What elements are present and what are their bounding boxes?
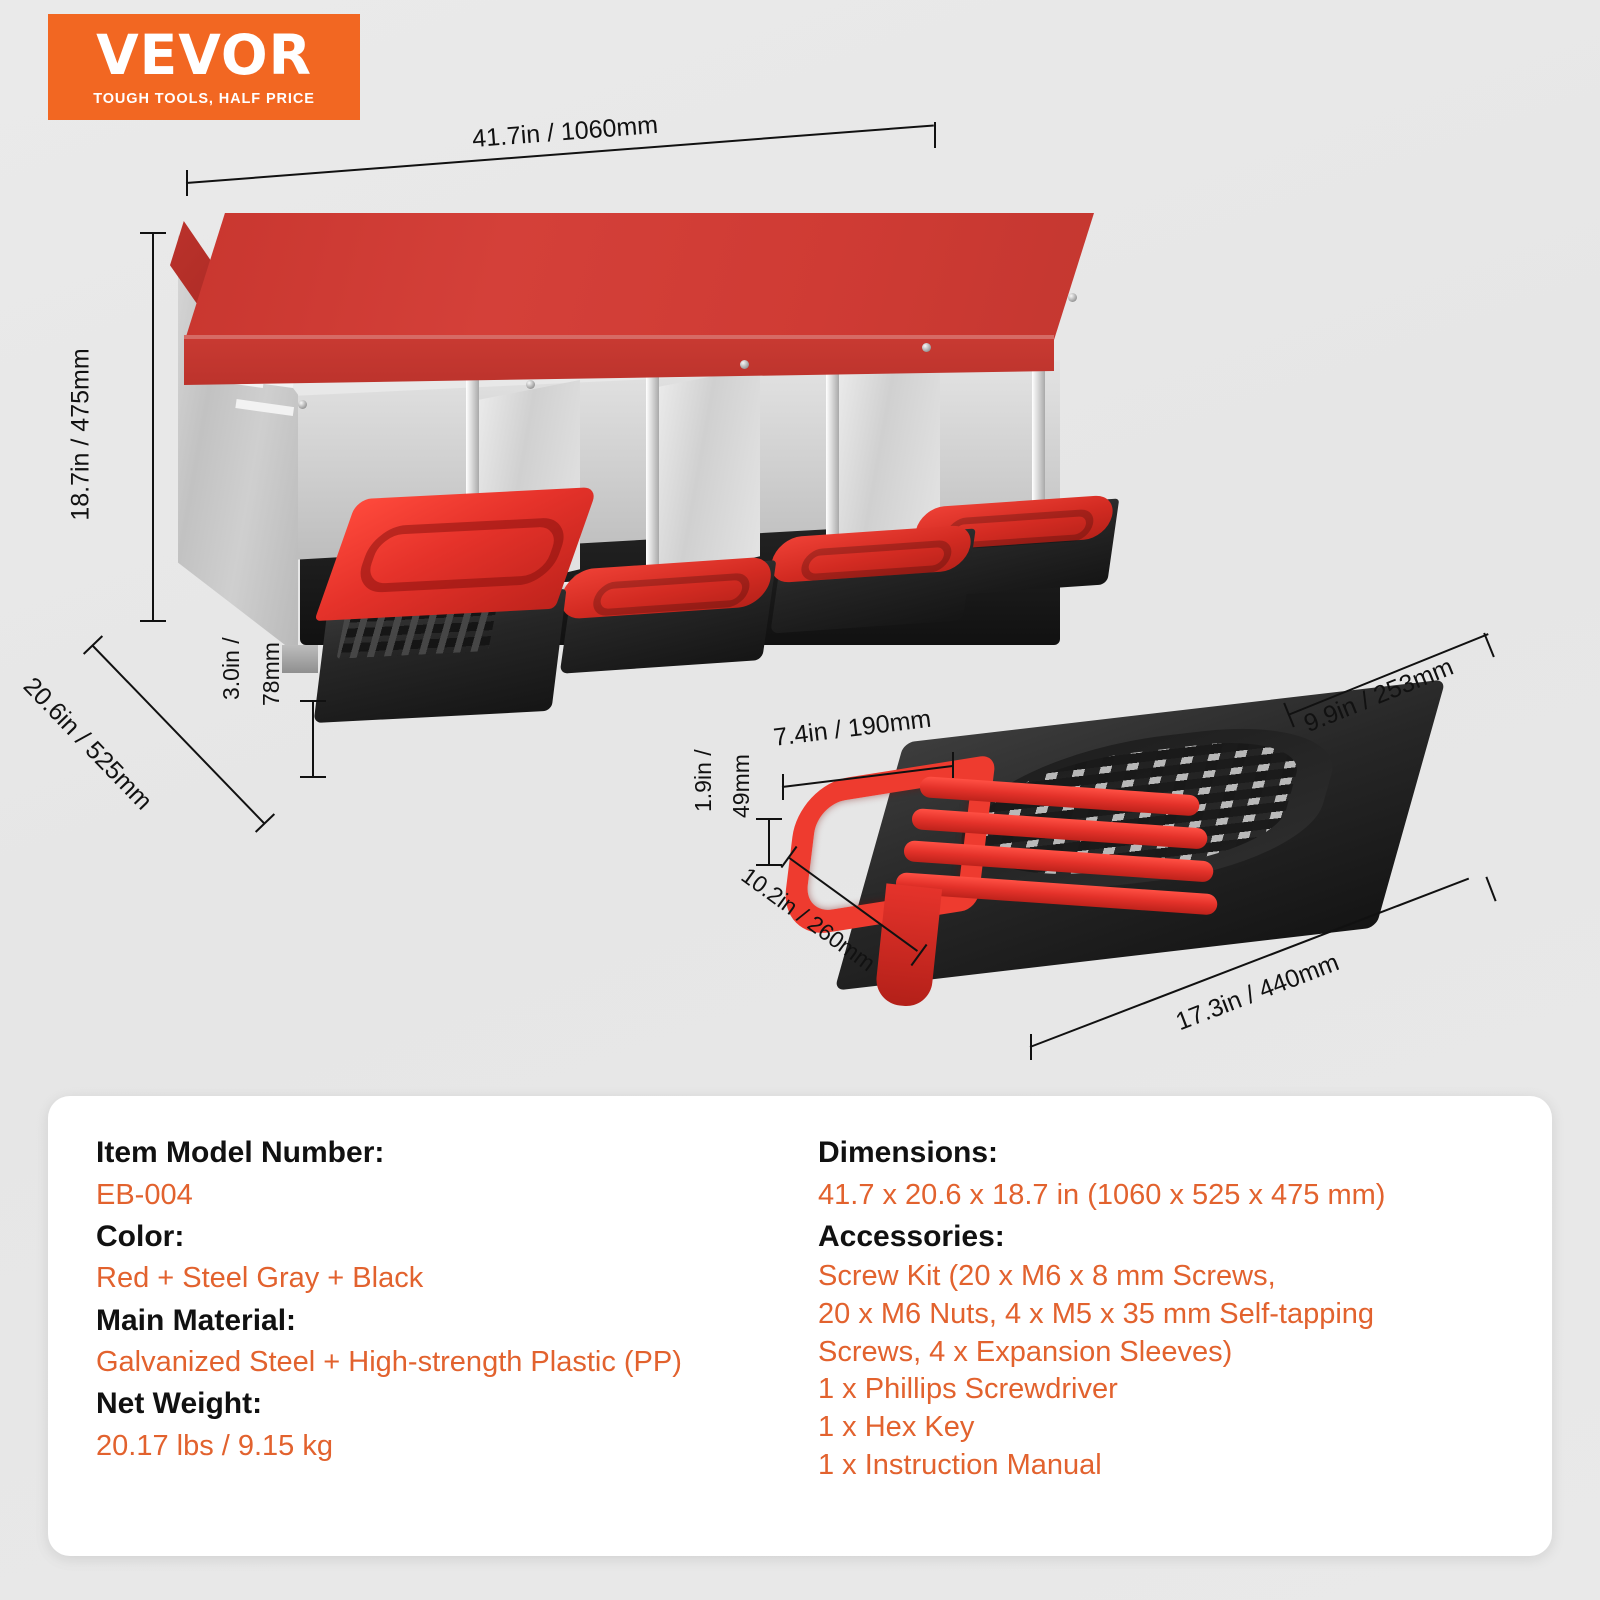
accessory-line: 1 x Instruction Manual: [818, 1447, 1504, 1485]
accessory-line: Screw Kit (20 x M6 x 8 mm Screws,: [818, 1258, 1504, 1296]
vevor-logo: VEVOR TOUGH TOOLS, HALF PRICE: [48, 14, 360, 120]
fascia-screw-5: [1068, 293, 1077, 302]
detached-tray-illustration: [770, 690, 1490, 1060]
accessory-line: 20 x M6 Nuts, 4 x M5 x 35 mm Self-tappin…: [818, 1296, 1504, 1334]
tray-handle-height-label-line1: 1.9in /: [690, 749, 717, 812]
tray-back-width-tick-right: [1483, 633, 1495, 658]
spec-column-left: Item Model Number: EB-004 Color: Red + S…: [96, 1132, 782, 1526]
roof-front-highlight: [184, 335, 1054, 339]
product-spec-page: VEVOR TOUGH TOOLS, HALF PRICE: [0, 0, 1600, 1600]
spec-column-right: Dimensions: 41.7 x 20.6 x 18.7 in (1060 …: [782, 1132, 1504, 1526]
height-tick-bottom: [140, 620, 166, 622]
accessory-line: Screws, 4 x Expansion Sleeves): [818, 1334, 1504, 1372]
spec-key-accessories: Accessories:: [818, 1216, 1504, 1259]
support-post-2: [646, 361, 659, 584]
tray-handle-height-tick-top: [756, 818, 782, 820]
lip-dim-label-line2: 78mm: [258, 642, 285, 706]
tray-length-tick-left: [1030, 1034, 1032, 1060]
spec-key-model: Item Model Number:: [96, 1132, 782, 1175]
fascia-screw-4: [922, 343, 931, 352]
spec-value-color: Red + Steel Gray + Black: [96, 1258, 782, 1299]
tray-handle-height-label-line2: 49mm: [728, 754, 755, 818]
fascia-screw-1: [298, 400, 307, 409]
brand-name: VEVOR: [96, 28, 312, 83]
roof-top-face: [184, 213, 1094, 343]
height-dim-label: 18.7in / 475mm: [67, 348, 96, 520]
fascia-screw-2: [526, 380, 535, 389]
spec-value-dimensions: 41.7 x 20.6 x 18.7 in (1060 x 525 x 475 …: [818, 1175, 1504, 1216]
lip-tick-top: [300, 700, 326, 702]
compartment-divider-2: [650, 367, 760, 582]
brand-tagline: TOUGH TOOLS, HALF PRICE: [93, 91, 315, 107]
tray-opening-tick-left: [782, 774, 784, 800]
spec-key-material: Main Material:: [96, 1300, 782, 1343]
specification-panel: Item Model Number: EB-004 Color: Red + S…: [48, 1096, 1552, 1556]
tray-handle-height-line: [768, 818, 770, 866]
width-tick-left: [186, 170, 188, 196]
lip-tick-bottom: [300, 776, 326, 778]
lip-dim-line: [312, 700, 314, 778]
height-dim-line: [152, 232, 154, 622]
spec-value-model: EB-004: [96, 1175, 782, 1216]
width-tick-right: [934, 122, 936, 148]
spec-value-weight: 20.17 lbs / 9.15 kg: [96, 1426, 782, 1467]
tray-1-handle[interactable]: [314, 487, 598, 621]
tray-handle-height-tick-bottom: [756, 864, 782, 866]
accessory-line: 1 x Hex Key: [818, 1409, 1504, 1447]
spec-key-dimensions: Dimensions:: [818, 1132, 1504, 1175]
height-tick-top: [140, 232, 166, 234]
fascia-screw-3: [740, 360, 749, 369]
spec-value-material: Galvanized Steel + High-strength Plastic…: [96, 1342, 782, 1383]
spec-key-color: Color:: [96, 1216, 782, 1259]
tray-opening-tick-right: [952, 752, 954, 778]
spec-key-weight: Net Weight:: [96, 1383, 782, 1426]
box-foot-left: [282, 645, 318, 673]
nesting-box-illustration: [170, 175, 1100, 775]
accessory-line: 1 x Phillips Screwdriver: [818, 1371, 1504, 1409]
lip-dim-label-line1: 3.0in /: [218, 637, 245, 700]
